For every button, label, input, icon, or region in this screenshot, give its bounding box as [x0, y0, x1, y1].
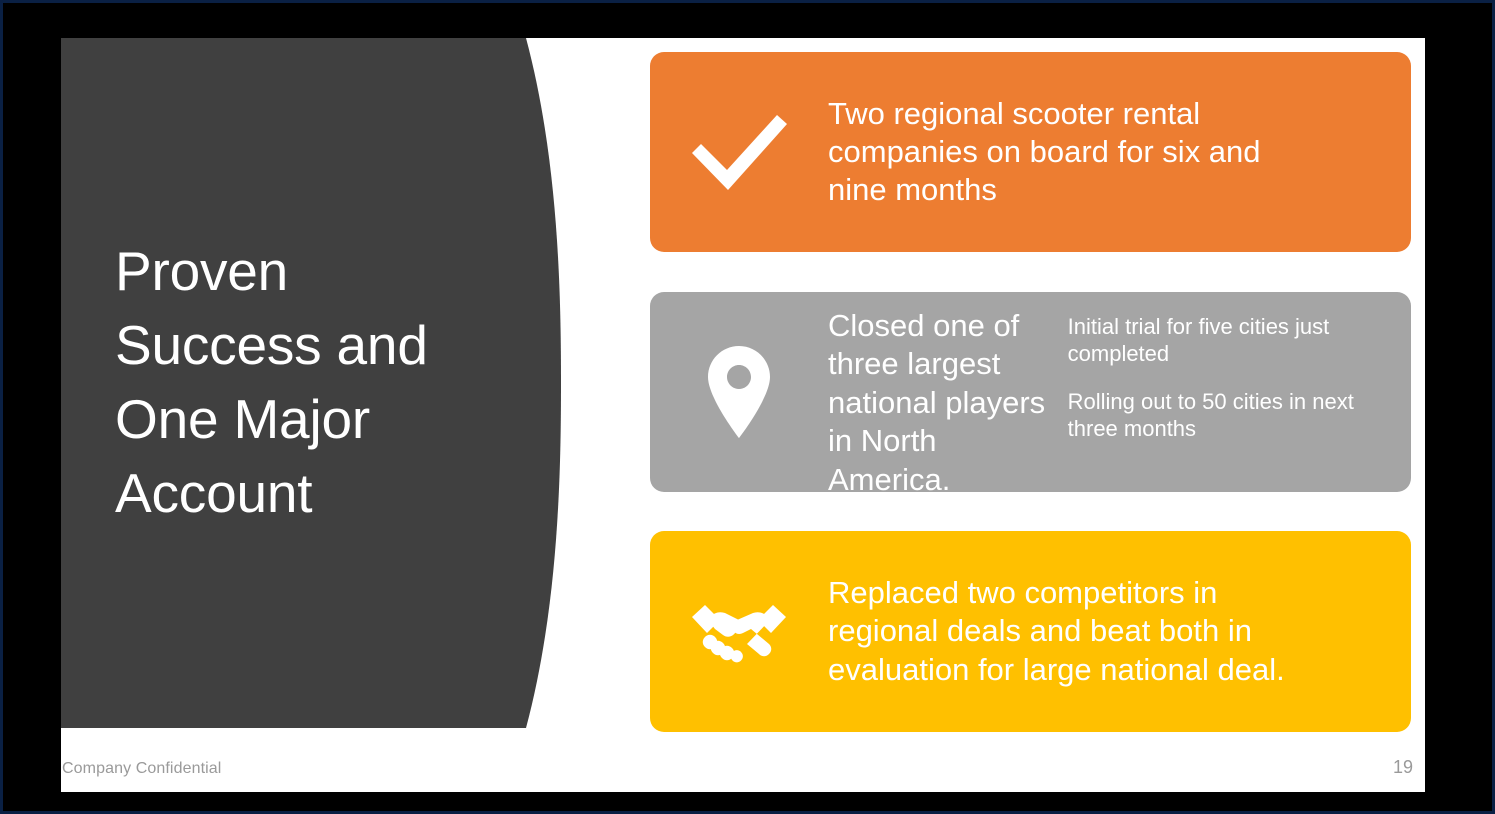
checkmark-icon-wrap — [650, 111, 828, 193]
presentation-viewport: Proven Success and One Major Account Two… — [0, 0, 1495, 814]
slide-stage: Proven Success and One Major Account Two… — [3, 3, 1492, 811]
highlight-card-handshake[interactable]: Replaced two competitors in regional dea… — [650, 531, 1411, 732]
checkmark-icon — [683, 111, 795, 193]
confidentiality-label: Company Confidential — [62, 760, 221, 778]
page-title: Proven Success and One Major Account — [115, 234, 475, 530]
highlight-card-list: Two regional scooter rental companies on… — [650, 52, 1411, 732]
handshake-card-text: Replaced two competitors in regional dea… — [828, 574, 1328, 690]
location-card-body: Closed one of three largest national pla… — [828, 285, 1411, 500]
slide-number: 19 — [1393, 757, 1413, 778]
map-pin-icon-wrap — [650, 346, 828, 438]
checkmark-card-text: Two regional scooter rental companies on… — [828, 95, 1298, 209]
handshake-icon — [689, 599, 789, 665]
handshake-card-body: Replaced two competitors in regional dea… — [828, 574, 1411, 690]
highlight-card-checkmark[interactable]: Two regional scooter rental companies on… — [650, 52, 1411, 252]
title-panel: Proven Success and One Major Account — [61, 38, 561, 728]
location-card-notes: Initial trial for five cities just compl… — [1046, 307, 1397, 443]
map-pin-icon — [708, 346, 770, 438]
checkmark-card-body: Two regional scooter rental companies on… — [828, 95, 1411, 209]
location-card-text: Closed one of three largest national pla… — [828, 307, 1046, 500]
handshake-icon-wrap — [650, 599, 828, 665]
slide-canvas: Proven Success and One Major Account Two… — [61, 38, 1425, 792]
highlight-card-location[interactable]: Closed one of three largest national pla… — [650, 292, 1411, 492]
location-note-1: Initial trial for five cities just compl… — [1068, 313, 1397, 368]
location-note-2: Rolling out to 50 cities in next three m… — [1068, 388, 1397, 443]
